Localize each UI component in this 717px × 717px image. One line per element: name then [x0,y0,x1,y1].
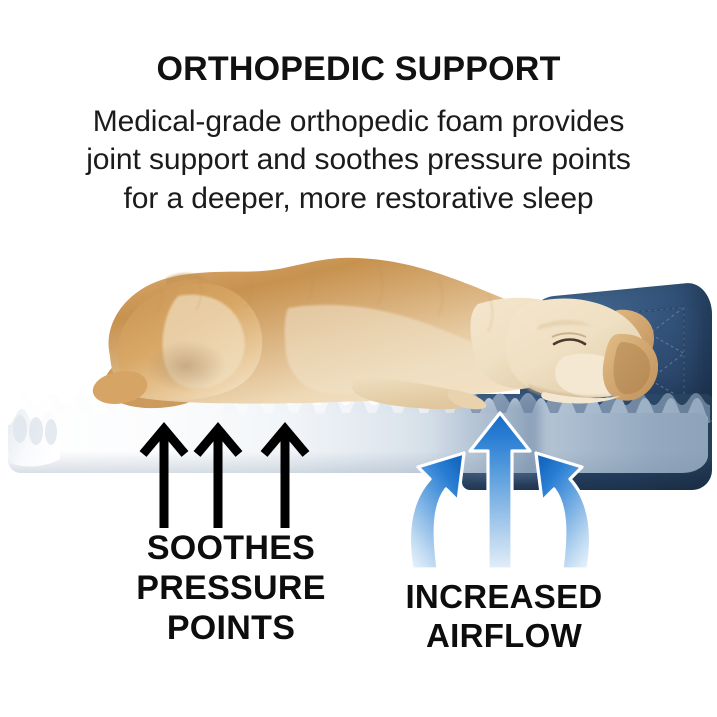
caption-soothes-pressure-points: SOOTHES PRESSURE POINTS [86,528,376,648]
pressure-arrow-2 [191,420,245,530]
infographic-canvas: ORTHOPEDIC SUPPORT Medical-grade orthope… [0,0,717,717]
caption-right-line-1: INCREASED [374,578,634,617]
page-title: ORTHOPEDIC SUPPORT [0,52,717,86]
header-text-block: ORTHOPEDIC SUPPORT Medical-grade orthope… [0,52,717,218]
airflow-arrow-right [536,453,591,569]
airflow-arrow-group [400,405,600,570]
product-scene [0,250,717,510]
caption-left-line-3: POINTS [86,608,376,648]
subtitle-line-3: for a deeper, more restorative sleep [0,180,717,218]
page-subtitle: Medical-grade orthopedic foam provides j… [0,103,717,218]
subtitle-line-2: joint support and soothes pressure point… [0,141,717,179]
airflow-arrow-center [470,413,530,569]
foam-left-endcap [6,399,60,473]
caption-increased-airflow: INCREASED AIRFLOW [374,578,634,656]
pressure-arrow-1 [137,420,191,530]
caption-left-line-1: SOOTHES [86,528,376,568]
pressure-arrow-3 [258,420,312,530]
airflow-arrow-left [409,453,464,569]
caption-right-line-2: AIRFLOW [374,617,634,656]
caption-left-line-2: PRESSURE [86,568,376,608]
subtitle-line-1: Medical-grade orthopedic foam provides [0,103,717,141]
